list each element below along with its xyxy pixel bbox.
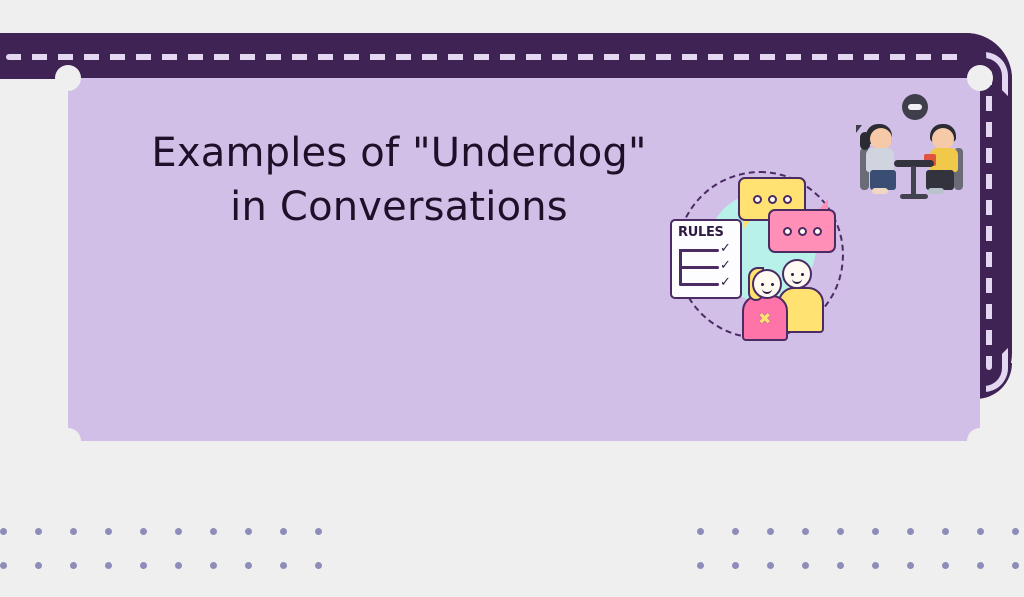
chat-bubble-line [908, 104, 922, 110]
decor-dot [35, 562, 42, 569]
smile-icon [792, 277, 802, 284]
decor-dot [0, 562, 7, 569]
table-base [900, 194, 928, 199]
table-leg [911, 166, 916, 196]
check-icon: ✓ [720, 260, 732, 272]
decor-dot [907, 528, 914, 535]
person-left-legs [870, 170, 896, 190]
card-notch-top-left [55, 65, 81, 91]
card-notch-bottom-left [55, 428, 81, 454]
person-left-ponytail [860, 132, 870, 150]
decor-dot [70, 562, 77, 569]
check-icon: ✓ [720, 277, 732, 289]
decor-dot [872, 562, 879, 569]
dot-row [697, 562, 1024, 569]
dot-row [0, 528, 350, 535]
ribbon-dash-right [986, 70, 992, 370]
person-right-shoes [928, 188, 944, 194]
decor-dot [802, 562, 809, 569]
decor-dot [767, 528, 774, 535]
bubble-dot [798, 227, 807, 236]
decor-dot [280, 562, 287, 569]
smile-icon [762, 287, 772, 294]
decor-dot [697, 528, 704, 535]
decor-dot [977, 562, 984, 569]
card-notch-bottom-right [967, 428, 993, 454]
decor-dot [837, 528, 844, 535]
chat-bubble-icon [902, 94, 928, 120]
eye-dot [771, 283, 774, 286]
decor-dot [175, 528, 182, 535]
bubble-dot [783, 227, 792, 236]
decor-dot [1012, 528, 1019, 535]
person-left-torso [866, 148, 894, 172]
decor-dot [942, 528, 949, 535]
conversation-badge: RULES ✓ ✓ ✓ [676, 171, 844, 339]
friend-a-head [752, 269, 782, 299]
decor-dot [105, 528, 112, 535]
x-badge-icon: ✖ [758, 309, 771, 328]
person-right-legs [926, 170, 954, 190]
ribbon-dash-top [6, 54, 966, 60]
decor-dot [280, 528, 287, 535]
check-icon: ✓ [720, 243, 732, 255]
illustration-group: RULES ✓ ✓ ✓ [668, 96, 968, 386]
decor-dot [802, 528, 809, 535]
rules-line-1 [679, 249, 719, 252]
card-notch-top-right [967, 65, 993, 91]
decor-dot [175, 562, 182, 569]
dot-row [0, 562, 350, 569]
dot-row [697, 528, 1024, 535]
decor-dot [210, 562, 217, 569]
decor-dot [837, 562, 844, 569]
page-title: Examples of "Underdog" in Conversations [114, 126, 684, 234]
decor-dot [697, 562, 704, 569]
decor-dot [977, 528, 984, 535]
decor-dot [732, 528, 739, 535]
bubble-dot [783, 195, 792, 204]
decor-dot [70, 528, 77, 535]
two-friends-illustration: ✖ [738, 255, 834, 341]
person-right-head [932, 128, 954, 150]
bubble-dot [753, 195, 762, 204]
decor-dot [245, 562, 252, 569]
friend-b-head [782, 259, 812, 289]
decor-dot [872, 528, 879, 535]
eye-dot [761, 283, 764, 286]
decor-dot [315, 528, 322, 535]
decor-dot [1012, 562, 1019, 569]
slide-canvas: Examples of "Underdog" in Conversations … [0, 0, 1024, 597]
eye-dot [791, 273, 794, 276]
decor-dot [907, 562, 914, 569]
decor-dot [0, 528, 7, 535]
person-left-shoes [872, 188, 888, 194]
decor-dot [942, 562, 949, 569]
rules-line-3 [679, 283, 719, 286]
decor-dot [315, 562, 322, 569]
pink-speech-bubble-icon [768, 209, 836, 253]
bubble-dot [768, 195, 777, 204]
rules-checklist-card: RULES ✓ ✓ ✓ [670, 219, 742, 299]
decor-dot [767, 562, 774, 569]
person-left-head [870, 128, 892, 150]
table-conversation-scene [846, 102, 976, 212]
decor-dot [140, 562, 147, 569]
bubble-dot [813, 227, 822, 236]
decor-dot [35, 528, 42, 535]
decor-dot [245, 528, 252, 535]
rules-line-2 [679, 266, 719, 269]
eye-dot [801, 273, 804, 276]
content-card: Examples of "Underdog" in Conversations … [68, 78, 980, 441]
decor-dot [105, 562, 112, 569]
rules-card-title: RULES [678, 225, 724, 240]
decor-dot [140, 528, 147, 535]
chat-bubble-tail [856, 125, 862, 133]
decor-dot [210, 528, 217, 535]
decor-dot [732, 562, 739, 569]
